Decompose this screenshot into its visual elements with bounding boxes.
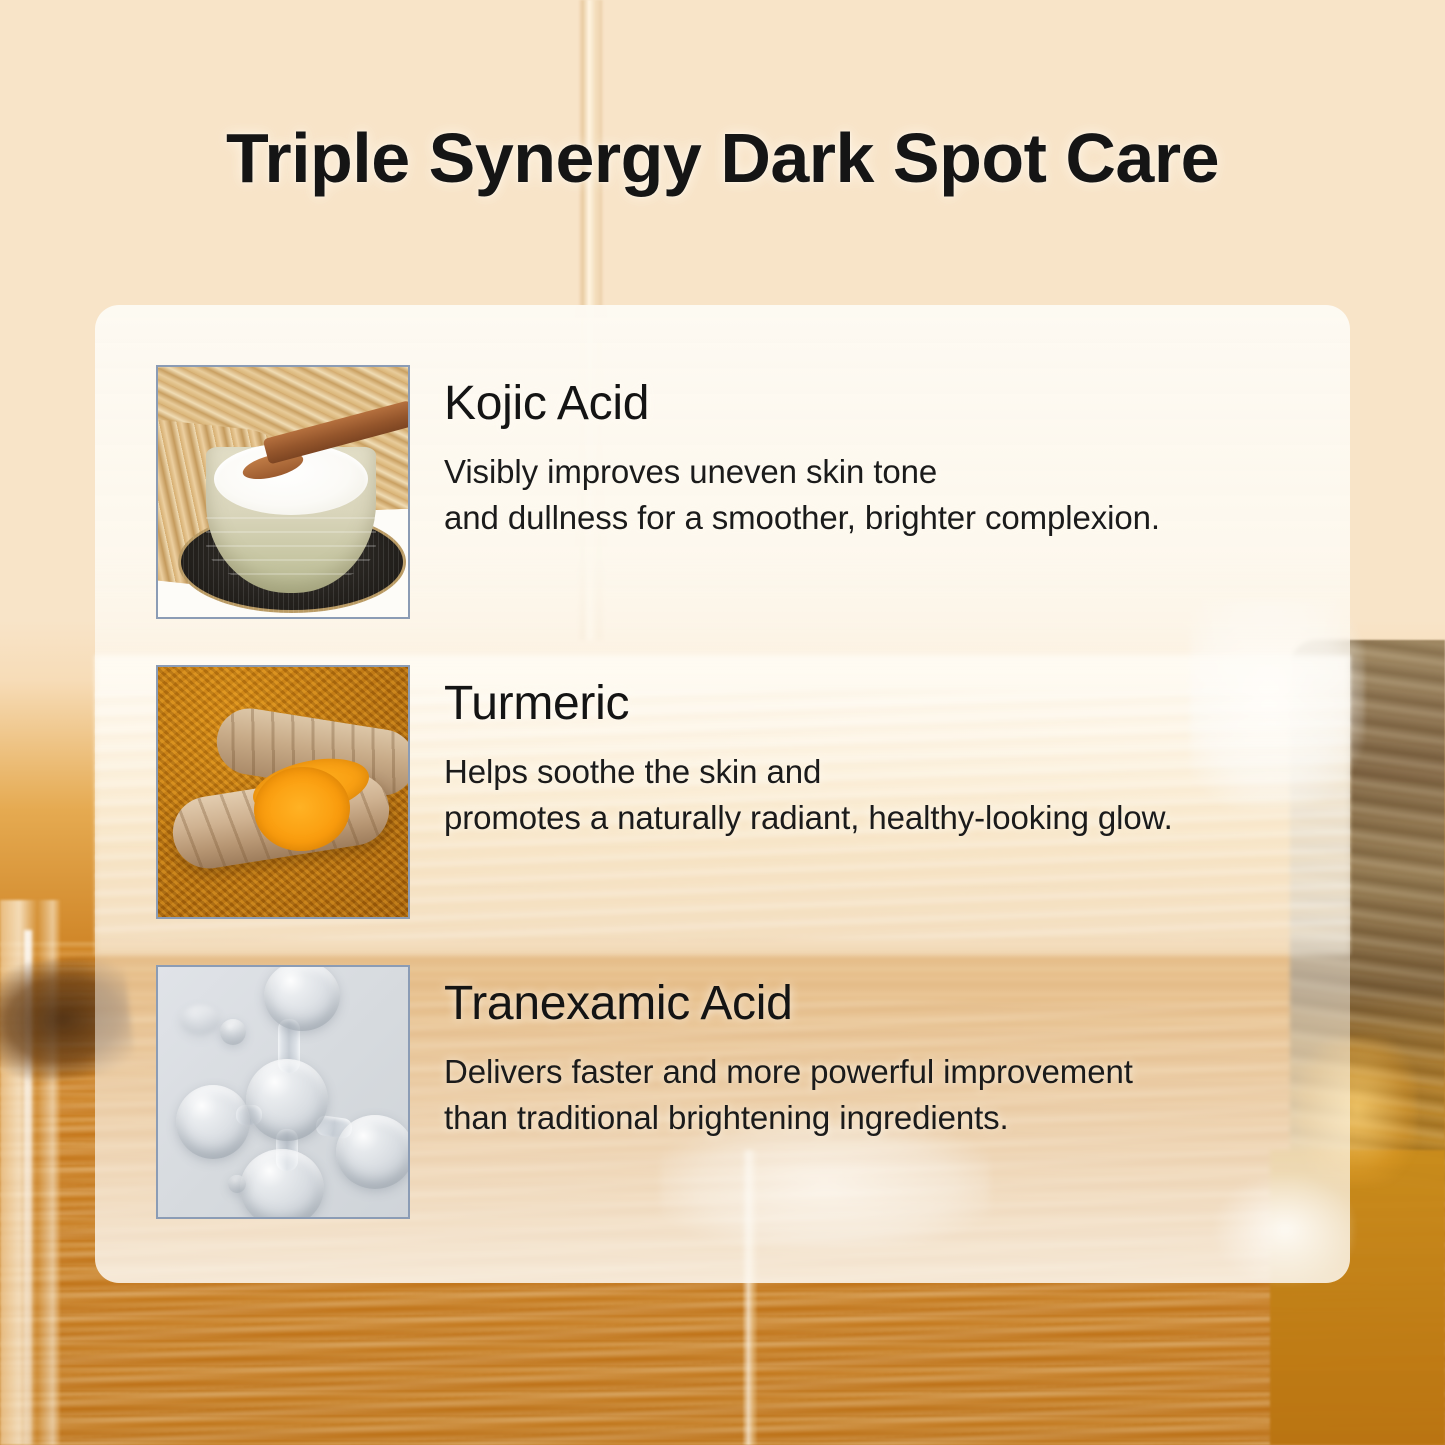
ingredient-row-tranexamic-acid: Tranexamic Acid Delivers faster and more… [156, 965, 1133, 1219]
page-title: Triple Synergy Dark Spot Care [0, 118, 1445, 198]
molecule-bubble-blur [180, 1005, 220, 1035]
ingredient-image-kojic-acid [156, 365, 410, 619]
ingredient-description-turmeric: Helps soothe the skin and promotes a nat… [444, 749, 1173, 840]
molecule-bubble-bottom [240, 1149, 324, 1219]
ingredient-text-tranexamic-acid: Tranexamic Acid Delivers faster and more… [444, 965, 1133, 1140]
ingredient-name-turmeric: Turmeric [444, 679, 1173, 729]
ingredient-image-tranexamic-acid [156, 965, 410, 1219]
ingredient-desc-line-1: Visibly improves uneven skin tone [444, 449, 1160, 495]
ingredient-name-kojic-acid: Kojic Acid [444, 379, 1160, 429]
molecule-bubble-center [246, 1059, 328, 1141]
ingredient-row-turmeric: Turmeric Helps soothe the skin and promo… [156, 665, 1173, 919]
ingredient-image-turmeric [156, 665, 410, 919]
ingredient-list: Kojic Acid Visibly improves uneven skin … [95, 305, 1350, 1283]
ingredient-description-tranexamic-acid: Delivers faster and more powerful improv… [444, 1049, 1133, 1140]
ingredient-description-kojic-acid: Visibly improves uneven skin tone and du… [444, 449, 1160, 540]
molecule-bubble-small-1 [220, 1019, 246, 1045]
ingredient-name-tranexamic-acid: Tranexamic Acid [444, 979, 1133, 1029]
ingredient-desc-line-2: promotes a naturally radiant, healthy-lo… [444, 795, 1173, 841]
ingredient-desc-line-1: Delivers faster and more powerful improv… [444, 1049, 1133, 1095]
ingredient-desc-line-1: Helps soothe the skin and [444, 749, 1173, 795]
ingredient-desc-line-2: than traditional brightening ingredients… [444, 1095, 1133, 1141]
ingredient-desc-line-2: and dullness for a smoother, brighter co… [444, 495, 1160, 541]
molecule-bubble-left [176, 1085, 250, 1159]
ingredient-text-turmeric: Turmeric Helps soothe the skin and promo… [444, 665, 1173, 840]
ingredients-card: Kojic Acid Visibly improves uneven skin … [95, 305, 1350, 1283]
molecule-bubble-right [336, 1115, 410, 1189]
molecule-bubble-small-2 [228, 1175, 246, 1193]
ingredient-text-kojic-acid: Kojic Acid Visibly improves uneven skin … [444, 365, 1160, 540]
ingredient-row-kojic-acid: Kojic Acid Visibly improves uneven skin … [156, 365, 1160, 619]
